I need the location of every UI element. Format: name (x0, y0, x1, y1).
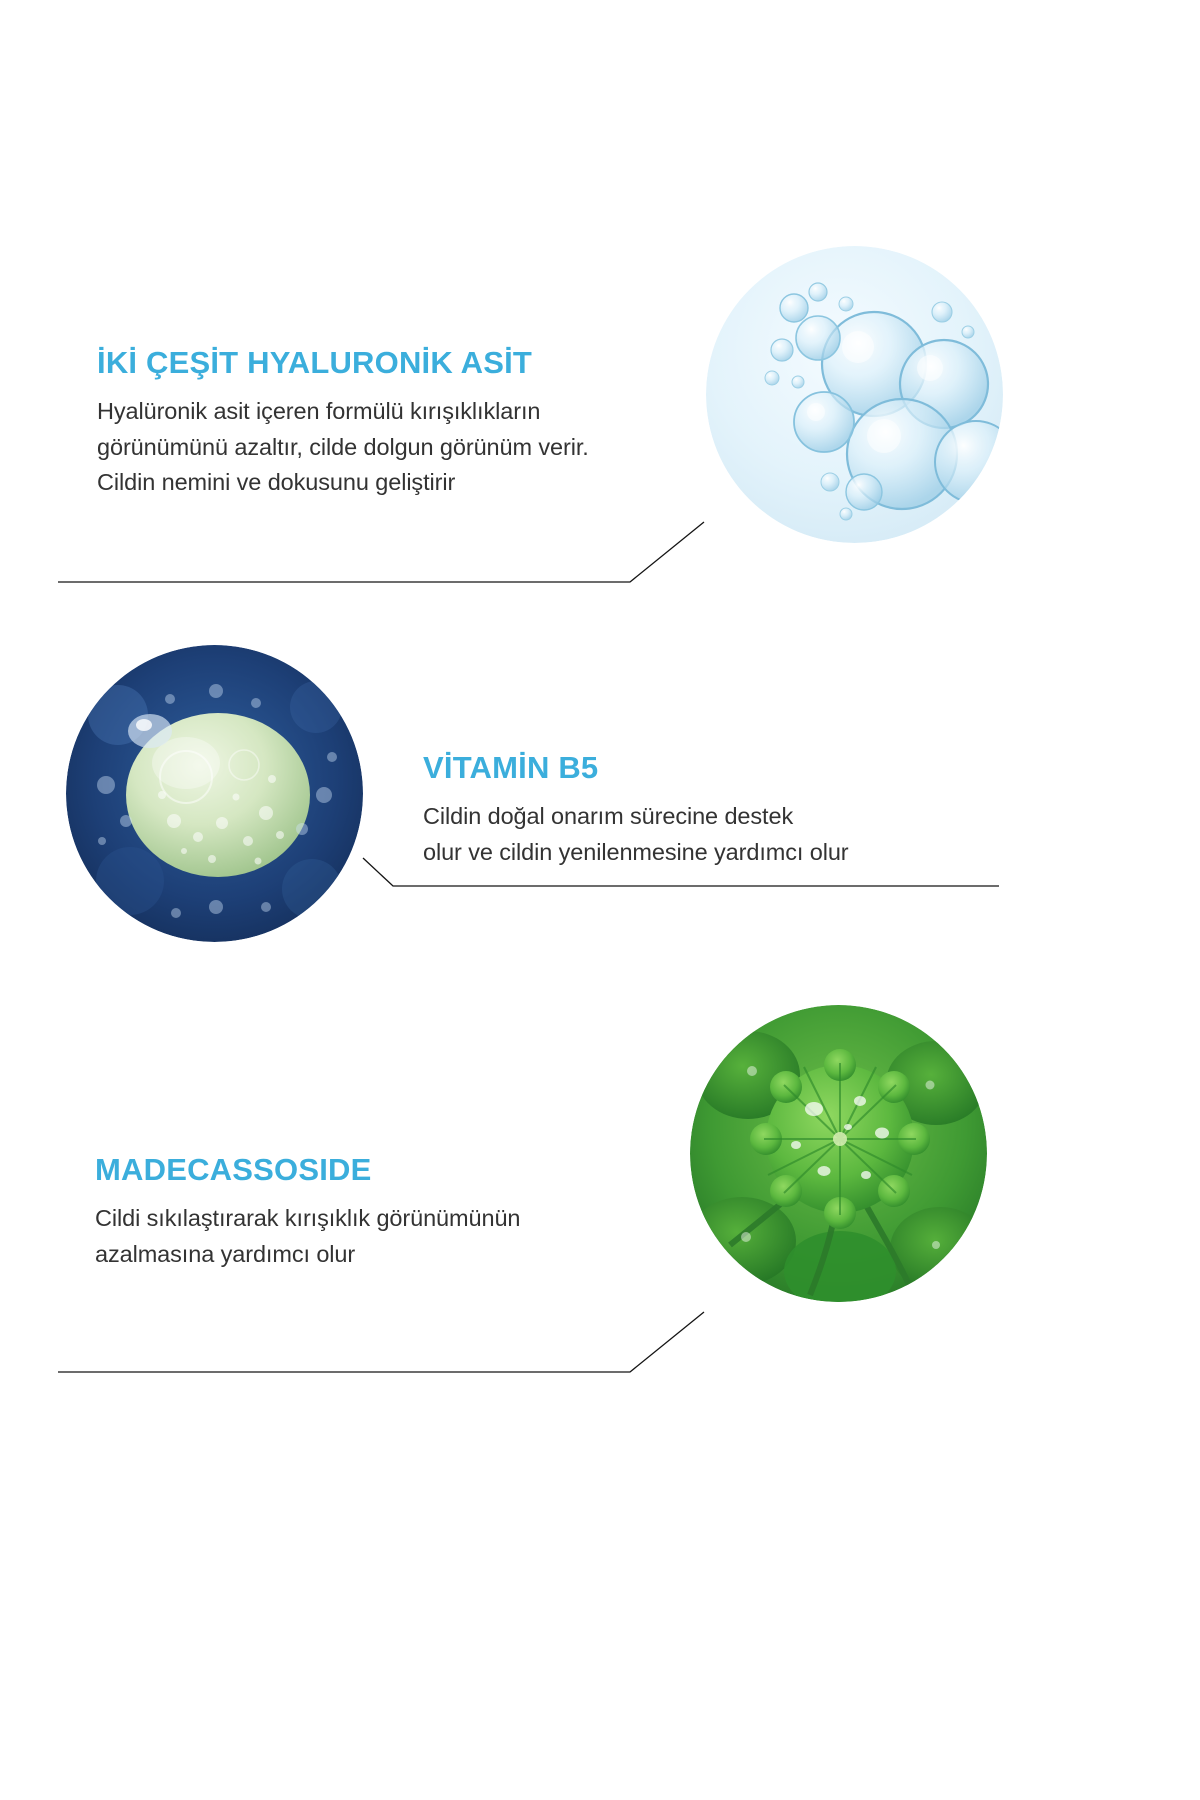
section-vitamin-b5: VİTAMİN B5 Cildin doğal onarım sürecine … (423, 750, 849, 870)
water-bubbles-photo (706, 246, 1003, 543)
section-heading-madecassoside: MADECASSOSIDE (95, 1152, 520, 1188)
section-body-vitamin-b5: Cildin doğal onarım sürecine destek olur… (423, 799, 849, 870)
body-line: Hyalüronik asit içeren formülü kırışıklı… (97, 394, 589, 430)
section-body-madecassoside: Cildi sıkılaştırarak kırışıklık görünümü… (95, 1201, 520, 1272)
body-line: Cildin doğal onarım sürecine destek (423, 799, 849, 835)
section-hyaluronic-acid: İKİ ÇEŞİT HYALURONİK ASİT Hyalüronik asi… (97, 345, 589, 501)
connector-line-madecassoside (58, 1310, 758, 1400)
section-madecassoside: MADECASSOSIDE Cildi sıkılaştırarak kırış… (95, 1152, 520, 1272)
blue-serum-droplet-photo (66, 645, 363, 942)
body-line: görünümünü azaltır, cilde dolgun görünüm… (97, 430, 589, 466)
body-line: Cildi sıkılaştırarak kırışıklık görünümü… (95, 1201, 520, 1237)
centella-asiatica-leaves-photo (690, 1005, 987, 1302)
body-line: Cildin nemini ve dokusunu geliştirir (97, 465, 589, 501)
body-line: azalmasına yardımcı olur (95, 1237, 520, 1273)
body-line: olur ve cildin yenilenmesine yardımcı ol… (423, 835, 849, 871)
section-heading-hyaluronic-acid: İKİ ÇEŞİT HYALURONİK ASİT (97, 345, 589, 381)
section-body-hyaluronic-acid: Hyalüronik asit içeren formülü kırışıklı… (97, 394, 589, 501)
ingredient-infographic-page: İKİ ÇEŞİT HYALURONİK ASİT Hyalüronik asi… (0, 0, 1200, 1800)
connector-line-hyaluronic-acid (58, 520, 758, 610)
section-heading-vitamin-b5: VİTAMİN B5 (423, 750, 849, 786)
